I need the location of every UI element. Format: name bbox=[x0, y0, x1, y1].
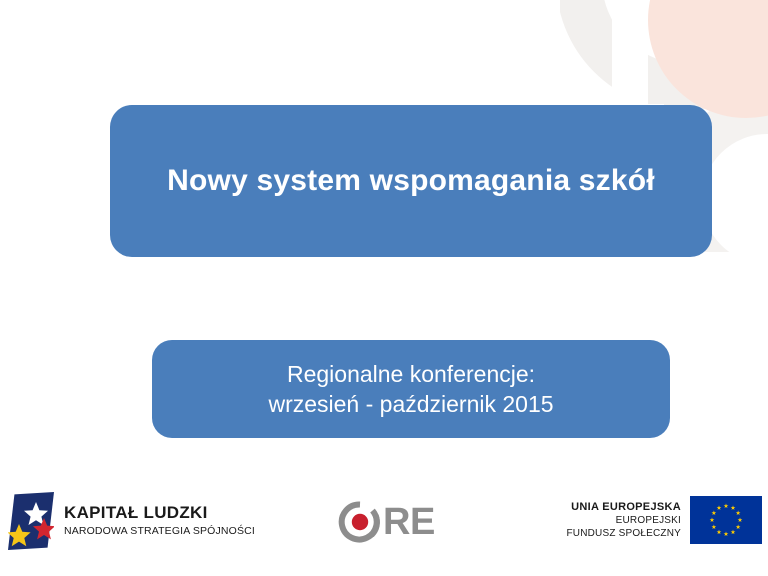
decorative-mask-mid bbox=[612, 0, 648, 104]
ore-wordmark: RE bbox=[383, 503, 435, 541]
footer-logo-strip: KAPITAŁ LUDZKI NARODOWA STRATEGIA SPÓJNO… bbox=[0, 486, 768, 576]
decorative-pink-circle bbox=[648, 0, 768, 118]
unia-europejska-line-1: UNIA EUROPEJSKA bbox=[566, 500, 681, 514]
kapital-ludzki-tagline: NARODOWA STRATEGIA SPÓJNOŚCI bbox=[64, 525, 255, 538]
kapital-ludzki-logo: KAPITAŁ LUDZKI NARODOWA STRATEGIA SPÓJNO… bbox=[8, 492, 255, 550]
decorative-ring-arc-upper bbox=[556, 0, 768, 110]
unia-europejska-logo: UNIA EUROPEJSKA EUROPEJSKI FUNDUSZ SPOŁE… bbox=[566, 496, 762, 544]
unia-europejska-wordmark: UNIA EUROPEJSKA EUROPEJSKI FUNDUSZ SPOŁE… bbox=[566, 500, 681, 540]
subtitle-line-1: Regionalne konferencje: bbox=[287, 361, 535, 387]
unia-europejska-line-3: FUNDUSZ SPOŁECZNY bbox=[566, 527, 681, 540]
kapital-ludzki-stars-icon bbox=[8, 492, 54, 550]
unia-europejska-line-2: EUROPEJSKI bbox=[566, 514, 681, 527]
slide-subtitle: Regionalne konferencje: wrzesień - paźdz… bbox=[268, 359, 553, 420]
ore-circle-icon bbox=[338, 500, 382, 544]
decorative-mask-under bbox=[556, 252, 768, 312]
presentation-slide: Nowy system wspomagania szkół Regionalne… bbox=[0, 0, 768, 576]
slide-subtitle-panel: Regionalne konferencje: wrzesień - paźdz… bbox=[152, 340, 670, 438]
slide-title-panel: Nowy system wspomagania szkół bbox=[110, 105, 712, 257]
kapital-ludzki-wordmark: KAPITAŁ LUDZKI NARODOWA STRATEGIA SPÓJNO… bbox=[64, 504, 255, 538]
subtitle-line-2: wrzesień - październik 2015 bbox=[268, 391, 553, 417]
page-title: Nowy system wspomagania szkół bbox=[167, 164, 655, 198]
ore-logo: RE bbox=[338, 500, 435, 544]
eu-flag-icon bbox=[690, 496, 762, 544]
kapital-ludzki-title: KAPITAŁ LUDZKI bbox=[64, 504, 255, 523]
